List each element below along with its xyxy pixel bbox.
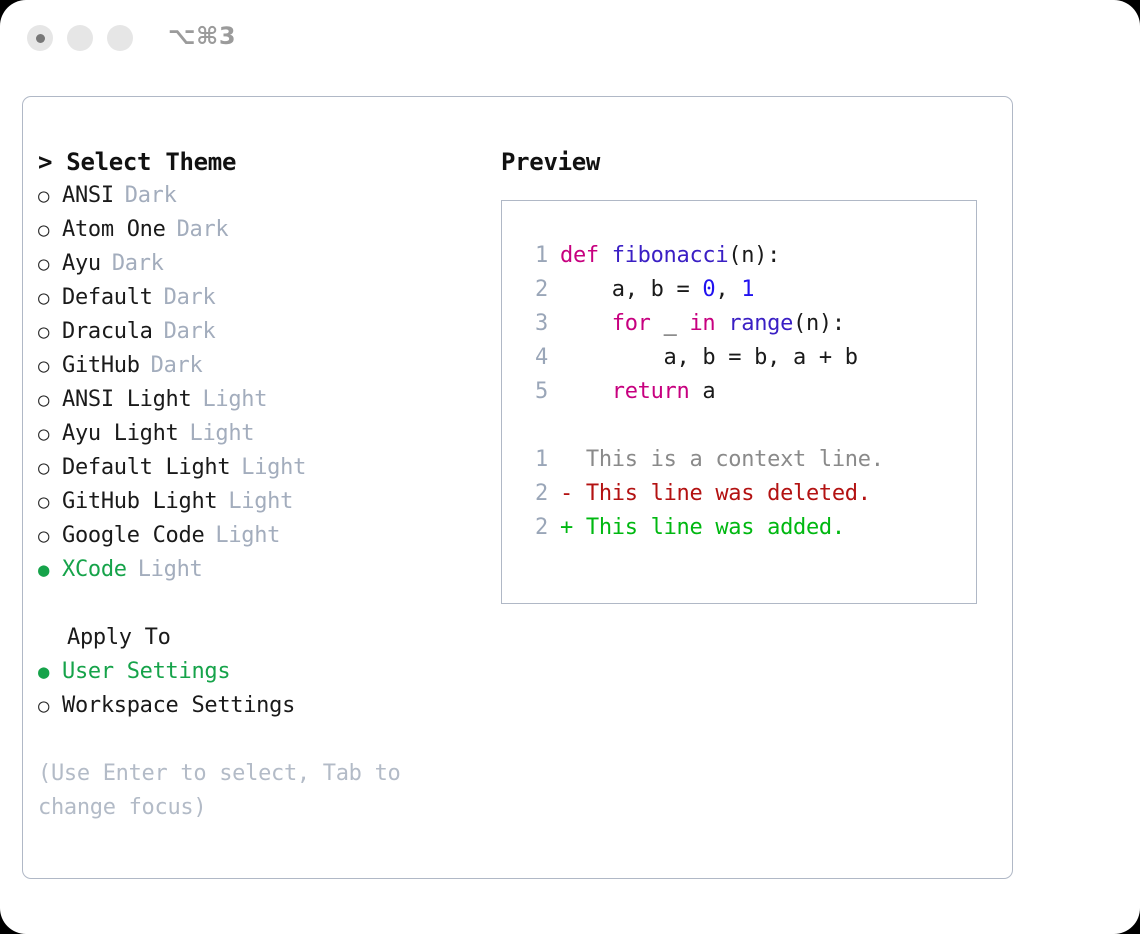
theme-item-label: GitHub — [62, 349, 140, 383]
theme-item-variant: Dark — [112, 247, 164, 281]
code-token-plain: (n): — [728, 243, 780, 268]
theme-item-ansi[interactable]: ○ANSIDark — [38, 179, 468, 213]
code-line-number: 4 — [520, 341, 548, 375]
code-line: 4 a, b = b, a + b — [520, 341, 976, 375]
diff-marker — [560, 443, 573, 477]
keyboard-shortcut-label: ⌥⌘3 — [168, 22, 236, 50]
window-dot-close[interactable] — [27, 25, 53, 51]
theme-item-variant: Light — [241, 451, 306, 485]
apply-to-item-workspace-settings[interactable]: ○Workspace Settings — [38, 689, 468, 723]
theme-item-label: Atom One — [62, 213, 166, 247]
theme-item-github[interactable]: ○GitHubDark — [38, 349, 468, 383]
code-sample: 1def fibonacci(n):2 a, b = 0, 13 for _ i… — [520, 239, 976, 409]
theme-item-ansi-light[interactable]: ○ANSI LightLight — [38, 383, 468, 417]
code-line-number: 5 — [520, 375, 548, 409]
code-line: 3 for _ in range(n): — [520, 307, 976, 341]
title-bar: ⌥⌘3 — [0, 0, 1140, 78]
radio-unselected-icon: ○ — [38, 179, 62, 213]
theme-item-atom-one[interactable]: ○Atom OneDark — [38, 213, 468, 247]
code-line-number: 3 — [520, 307, 548, 341]
radio-unselected-icon: ○ — [38, 485, 62, 519]
diff-marker: + — [560, 511, 573, 545]
theme-item-label: Dracula — [62, 315, 153, 349]
code-token-plain — [560, 311, 612, 336]
code-token-fn: fibonacci — [612, 243, 729, 268]
window-controls — [27, 25, 133, 51]
diff-line-del: 2- This line was deleted. — [520, 477, 976, 511]
theme-item-variant: Dark — [164, 315, 216, 349]
theme-item-dracula[interactable]: ○DraculaDark — [38, 315, 468, 349]
radio-unselected-icon: ○ — [38, 451, 62, 485]
theme-item-label: ANSI — [62, 179, 114, 213]
preview-heading: Preview — [501, 145, 991, 179]
app-window: ⌥⌘3 > Select Theme ○ANSIDark○Atom OneDar… — [0, 0, 1140, 934]
theme-item-variant: Light — [215, 519, 280, 553]
radio-unselected-icon: ○ — [38, 349, 62, 383]
diff-marker: - — [560, 477, 573, 511]
code-line-content: a, b = 0, 1 — [560, 273, 754, 307]
radio-selected-icon: ● — [38, 553, 62, 587]
theme-item-variant: Dark — [164, 281, 216, 315]
code-token-num: 1 — [741, 277, 754, 302]
diff-line-text: This line was deleted. — [573, 477, 871, 511]
apply-to-item-label: Workspace Settings — [62, 689, 295, 723]
diff-line-ctx: 1 This is a context line. — [520, 443, 976, 477]
code-token-plain: a, b = — [560, 277, 702, 302]
theme-item-default-light[interactable]: ○Default LightLight — [38, 451, 468, 485]
theme-item-variant: Light — [138, 553, 203, 587]
radio-unselected-icon: ○ — [38, 213, 62, 247]
code-token-kw: def — [560, 243, 612, 268]
apply-to-list: ●User Settings○Workspace Settings — [38, 655, 468, 723]
apply-to-item-user-settings[interactable]: ●User Settings — [38, 655, 468, 689]
code-line: 2 a, b = 0, 1 — [520, 273, 976, 307]
diff-line-number: 2 — [520, 511, 548, 545]
theme-item-label: Google Code — [62, 519, 204, 553]
diff-sample: 1 This is a context line.2- This line wa… — [520, 443, 976, 545]
theme-item-variant: Dark — [177, 213, 229, 247]
spacer — [520, 409, 976, 443]
code-token-kw: return — [612, 379, 690, 404]
theme-item-variant: Dark — [125, 179, 177, 213]
radio-unselected-icon: ○ — [38, 417, 62, 451]
code-line-number: 2 — [520, 273, 548, 307]
window-dot-maximize[interactable] — [107, 25, 133, 51]
code-token-plain: a — [689, 379, 715, 404]
preview-column: Preview 1def fibonacci(n):2 a, b = 0, 13… — [501, 145, 991, 604]
radio-unselected-icon: ○ — [38, 247, 62, 281]
code-token-plain — [560, 379, 612, 404]
theme-item-google-code[interactable]: ○Google CodeLight — [38, 519, 468, 553]
theme-list: ○ANSIDark○Atom OneDark○AyuDark○DefaultDa… — [38, 179, 468, 587]
theme-item-label: GitHub Light — [62, 485, 217, 519]
code-token-plain: (n): — [793, 311, 845, 336]
theme-item-variant: Light — [202, 383, 267, 417]
diff-line-text: This line was added. — [573, 511, 845, 545]
radio-selected-icon: ● — [38, 655, 62, 689]
spacer — [38, 587, 468, 621]
theme-item-label: Ayu — [62, 247, 101, 281]
theme-item-label: Ayu Light — [62, 417, 179, 451]
radio-unselected-icon: ○ — [38, 281, 62, 315]
code-token-plain: , — [715, 277, 741, 302]
diff-line-number: 2 — [520, 477, 548, 511]
apply-to-item-label: User Settings — [62, 655, 230, 689]
code-token-plain: _ — [651, 311, 690, 336]
code-line-number: 1 — [520, 239, 548, 273]
code-line: 1def fibonacci(n): — [520, 239, 976, 273]
radio-unselected-icon: ○ — [38, 689, 62, 723]
theme-item-variant: Light — [228, 485, 293, 519]
theme-selector-column: > Select Theme ○ANSIDark○Atom OneDark○Ay… — [38, 145, 468, 825]
main-panel: > Select Theme ○ANSIDark○Atom OneDark○Ay… — [22, 96, 1013, 879]
theme-item-variant: Dark — [151, 349, 203, 383]
keyboard-hint-text: (Use Enter to select, Tab to change focu… — [38, 757, 438, 825]
code-line-content: for _ in range(n): — [560, 307, 845, 341]
code-line-content: return a — [560, 375, 715, 409]
code-token-kw: for — [612, 311, 651, 336]
preview-panel: 1def fibonacci(n):2 a, b = 0, 13 for _ i… — [501, 200, 977, 604]
code-token-num: 0 — [702, 277, 715, 302]
code-token-plain — [715, 311, 728, 336]
code-token-plain: a, b = b, a + b — [560, 345, 858, 370]
theme-item-ayu[interactable]: ○AyuDark — [38, 247, 468, 281]
code-token-kw: in — [689, 311, 715, 336]
theme-item-variant: Light — [190, 417, 255, 451]
apply-to-heading: Apply To — [38, 621, 468, 655]
theme-item-xcode[interactable]: ●XCodeLight — [38, 553, 468, 587]
window-dot-minimize[interactable] — [67, 25, 93, 51]
window-dot-close-icon — [36, 34, 45, 43]
theme-item-label: ANSI Light — [62, 383, 191, 417]
theme-item-label: XCode — [62, 553, 127, 587]
radio-unselected-icon: ○ — [38, 315, 62, 349]
theme-item-label: Default Light — [62, 451, 230, 485]
diff-line-number: 1 — [520, 443, 548, 477]
diff-line-add: 2+ This line was added. — [520, 511, 976, 545]
code-token-fn: range — [728, 311, 793, 336]
diff-line-text: This is a context line. — [573, 443, 884, 477]
radio-unselected-icon: ○ — [38, 383, 62, 417]
radio-unselected-icon: ○ — [38, 519, 62, 553]
code-line: 5 return a — [520, 375, 976, 409]
theme-item-label: Default — [62, 281, 153, 315]
code-line-content: def fibonacci(n): — [560, 239, 780, 273]
code-line-content: a, b = b, a + b — [560, 341, 858, 375]
theme-item-github-light[interactable]: ○GitHub LightLight — [38, 485, 468, 519]
theme-item-ayu-light[interactable]: ○Ayu LightLight — [38, 417, 468, 451]
theme-item-default[interactable]: ○DefaultDark — [38, 281, 468, 315]
select-theme-heading: > Select Theme — [38, 145, 468, 179]
